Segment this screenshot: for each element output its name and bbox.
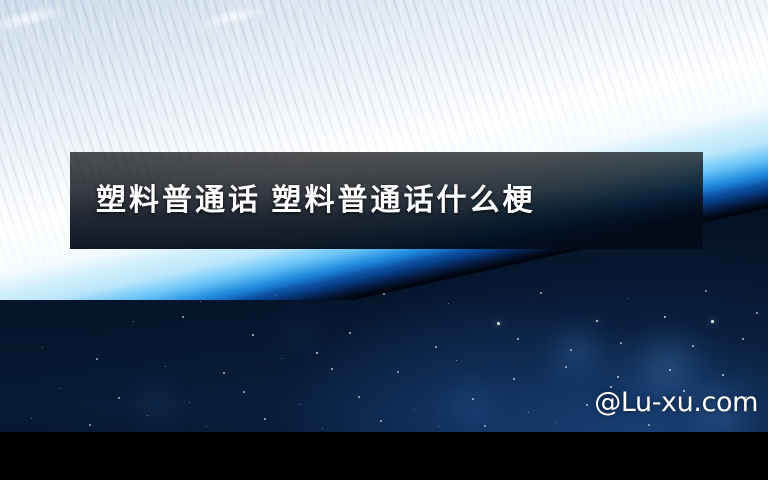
site-watermark: @Lu-xu.com <box>594 387 758 418</box>
page-title: 塑料普通话 塑料普通话什么梗 <box>96 184 536 217</box>
title-overlay-band: 塑料普通话 塑料普通话什么梗 <box>70 152 703 249</box>
earth-from-orbit <box>0 0 768 300</box>
bottom-black-bar <box>0 432 768 480</box>
banner-image: 塑料普通话 塑料普通话什么梗 @Lu-xu.com <box>0 0 768 480</box>
atmospheric-limb-glow <box>0 0 768 300</box>
